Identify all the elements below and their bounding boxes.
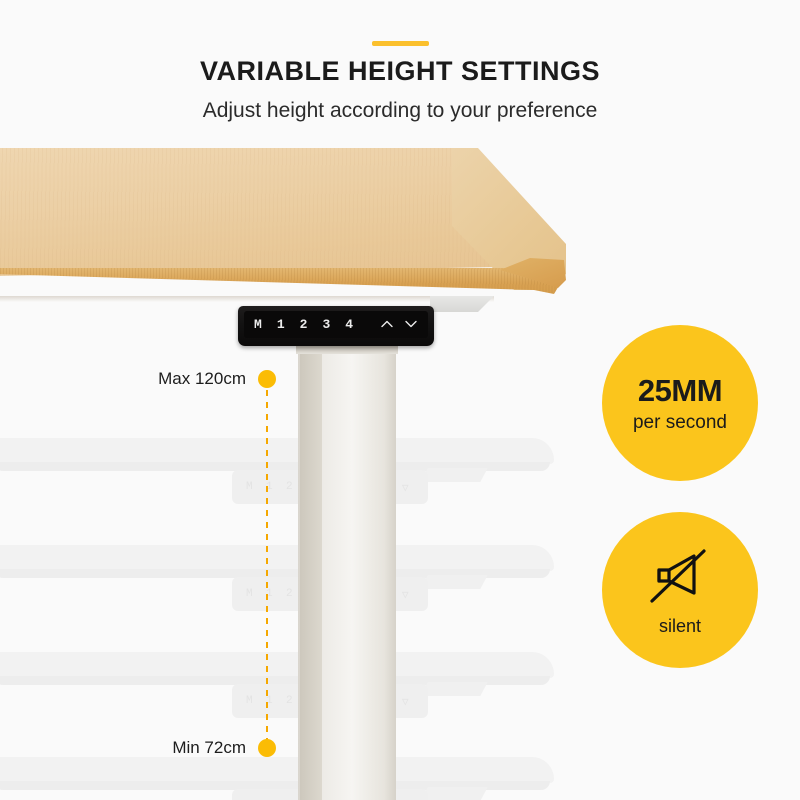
silent-badge: silent [602,512,758,668]
ghost-desktop [0,652,554,678]
height-range-dashed-line [266,378,268,748]
silent-badge-caption: silent [659,617,701,635]
min-height-label: Min 72cm [56,738,246,758]
ghost-desktop [0,438,554,464]
ghost-desk-edge [0,569,550,578]
ghost-bracket [420,787,487,800]
ghost-desk-edge [0,462,550,471]
control-panel-arrows [380,317,418,331]
ghost-desktop [0,545,554,571]
control-panel-keys: M 1 2 3 4 [254,318,353,331]
chevron-up-icon[interactable] [380,317,394,331]
desk-frame-bracket [430,296,494,312]
ghost-bracket [420,575,487,589]
ghost-desk-edge [0,676,550,685]
page-subtitle: Adjust height according to your preferen… [0,99,800,123]
max-height-label: Max 120cm [56,369,246,389]
muted-speaker-icon [646,545,714,607]
max-height-marker-dot [258,370,276,388]
preset-key-4[interactable]: 4 [345,318,353,331]
speed-badge-caption: per second [633,413,727,432]
desk-leg-inner-edge [300,344,322,800]
preset-key-2[interactable]: 2 [300,318,308,331]
min-height-marker-dot [258,739,276,757]
height-control-panel[interactable]: M 1 2 3 4 [238,306,434,346]
chevron-down-icon[interactable] [404,317,418,331]
memory-key[interactable]: M [254,318,262,331]
ghost-bracket [420,468,487,482]
promo-graphic: VARIABLE HEIGHT SETTINGS Adjust height a… [0,0,800,800]
accent-bar [372,41,429,46]
ghost-desk-edge [0,781,550,790]
speed-badge: 25MM per second [602,325,758,481]
ghost-bracket [420,682,487,696]
ghost-desktop [0,757,554,783]
preset-key-3[interactable]: 3 [322,318,330,331]
page-title: VARIABLE HEIGHT SETTINGS [0,56,800,87]
desk-underside-shadow [0,296,494,302]
speed-badge-headline: 25MM [638,375,722,406]
preset-key-1[interactable]: 1 [277,318,285,331]
